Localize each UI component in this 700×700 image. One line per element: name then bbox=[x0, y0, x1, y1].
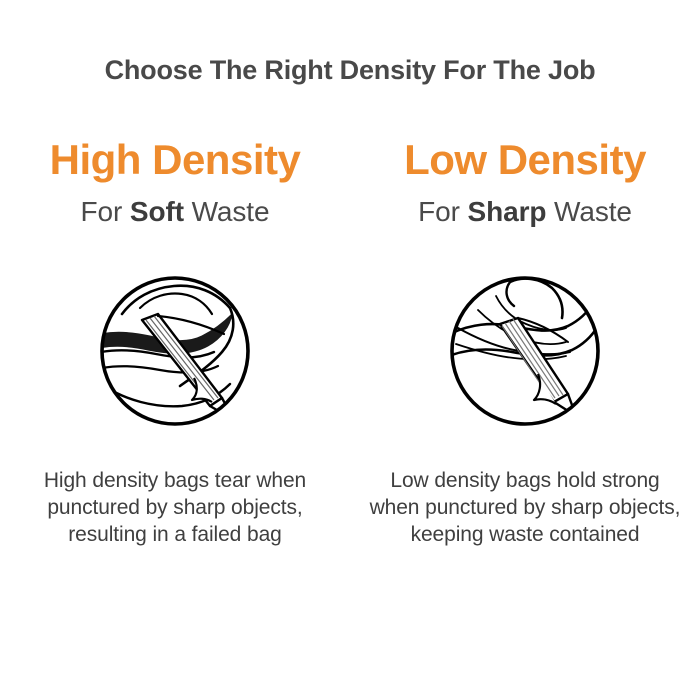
density-comparison-infographic: Choose The Right Density For The Job Hig… bbox=[0, 0, 700, 700]
high-density-caption: High density bags tear when punctured by… bbox=[25, 468, 325, 549]
comparison-columns: High Density For Soft Waste bbox=[0, 138, 700, 549]
high-density-subtitle-prefix: For bbox=[81, 196, 130, 227]
low-density-subtitle: For Sharp Waste bbox=[418, 196, 632, 228]
column-high-density: High Density For Soft Waste bbox=[0, 138, 350, 549]
page-title: Choose The Right Density For The Job bbox=[0, 56, 700, 86]
low-density-subtitle-suffix: Waste bbox=[546, 196, 632, 227]
high-density-subtitle-emphasis: Soft bbox=[130, 196, 184, 227]
bag-holding-sharp-object-illustration bbox=[448, 274, 602, 428]
high-density-subtitle: For Soft Waste bbox=[81, 196, 270, 228]
low-density-caption: Low density bags hold strong when punctu… bbox=[366, 468, 684, 549]
low-density-subtitle-emphasis: Sharp bbox=[468, 196, 547, 227]
column-low-density: Low Density For Sharp Waste bbox=[350, 138, 700, 549]
low-density-subtitle-prefix: For bbox=[418, 196, 467, 227]
bag-torn-by-sharp-object-illustration bbox=[98, 274, 252, 428]
low-density-heading: Low Density bbox=[404, 138, 646, 182]
high-density-heading: High Density bbox=[50, 138, 301, 182]
high-density-subtitle-suffix: Waste bbox=[184, 196, 270, 227]
